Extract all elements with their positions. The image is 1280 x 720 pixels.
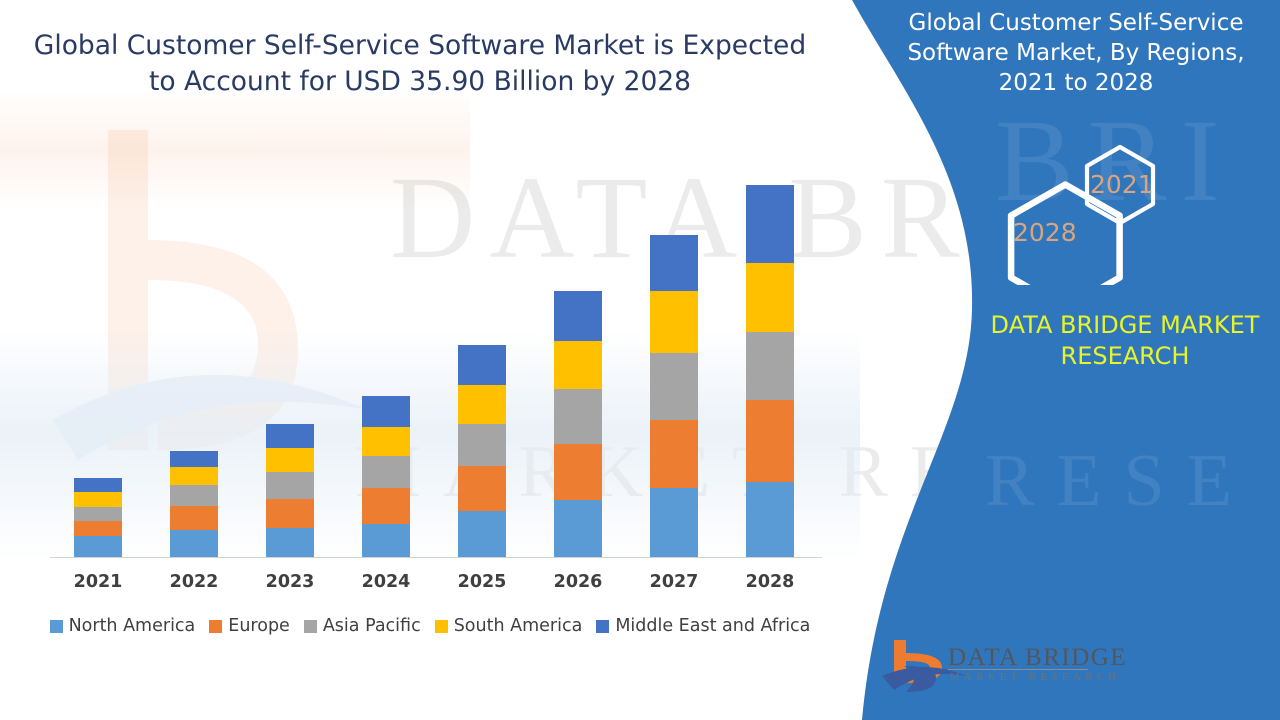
brand-line-2: RESEARCH xyxy=(960,341,1280,372)
hexagon-badge-group: 2028 2021 xyxy=(985,135,1185,285)
brand-line-1: DATA BRIDGE MARKET xyxy=(960,310,1280,341)
hexagon-outlines-icon xyxy=(985,135,1185,285)
brand-name: DATA BRIDGE MARKET RESEARCH xyxy=(960,310,1280,372)
logo-text-data-bridge: DATA BRIDGE xyxy=(948,644,1127,672)
logo-text-market-research: MARKET RESEARCH xyxy=(950,672,1121,683)
infographic-canvas: DATA BRIDGE MARKET RESEARCH Global Custo… xyxy=(0,0,1280,720)
hexagon-label-2028: 2028 xyxy=(1013,218,1077,247)
logo-divider xyxy=(948,669,1088,670)
svg-text:RESE: RESE xyxy=(985,440,1254,522)
hexagon-label-2021: 2021 xyxy=(1090,170,1154,199)
panel-title: Global Customer Self-Service Software Ma… xyxy=(900,8,1252,98)
